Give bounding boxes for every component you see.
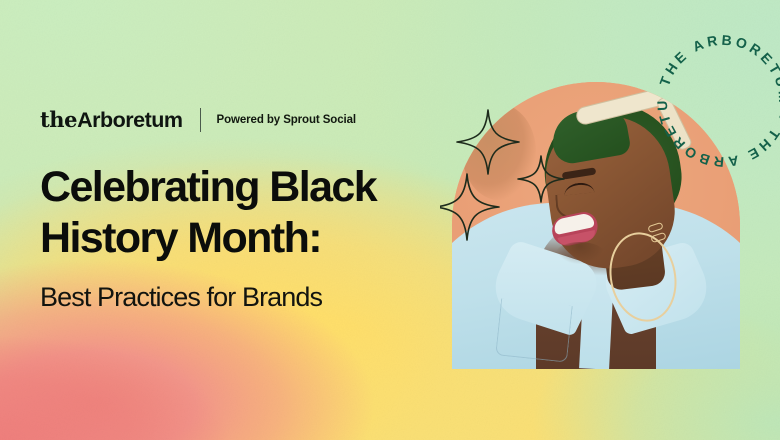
page-title: Celebrating Black History Month: (40, 162, 440, 264)
badge-text: THE ARBORETUM • THE ARBORETUM • (648, 26, 780, 170)
brand-lockup: theArboretum Powered by Sprout Social (40, 106, 440, 134)
page-subtitle: Best Practices for Brands (40, 281, 440, 313)
headline-line-2: History Month: (40, 213, 440, 264)
text-content-column: theArboretum Powered by Sprout Social Ce… (40, 106, 440, 313)
arboretum-logo[interactable]: theArboretum (40, 107, 183, 133)
shirt-pocket (495, 298, 573, 362)
banner-root: theArboretum Powered by Sprout Social Ce… (0, 0, 780, 440)
powered-by-tagline: Powered by Sprout Social (217, 114, 356, 126)
circular-arboretum-badge: THE ARBORETUM • THE ARBORETUM • (648, 26, 780, 176)
brand-divider (200, 108, 201, 132)
face-highlight (462, 104, 536, 200)
logo-word-arboretum: Arboretum (77, 108, 182, 132)
headline-line-1: Celebrating Black (40, 162, 440, 213)
chin-shadow (556, 242, 604, 264)
logo-word-the: the (40, 107, 77, 132)
